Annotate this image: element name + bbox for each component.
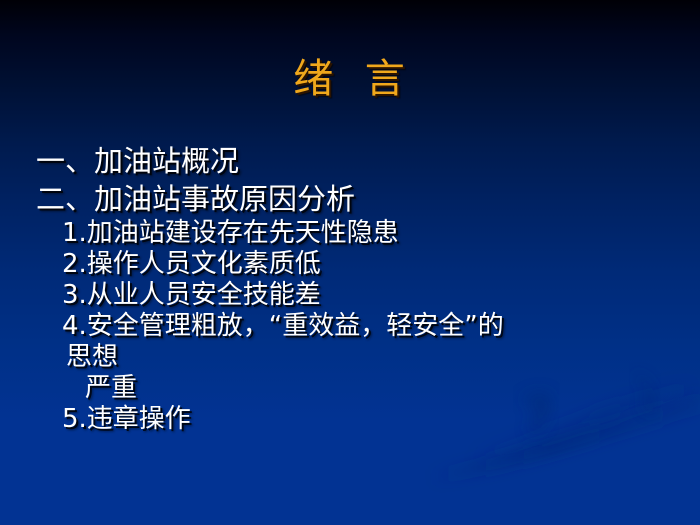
outline-item-1: 1.加油站建设存在先天性隐患 xyxy=(0,218,700,249)
outline-heading-1: 一、加油站概况 xyxy=(0,142,700,180)
outline-item-5: 5.违章操作 xyxy=(0,404,700,435)
presentation-slide: 绪 言 一、加油站概况 二、加油站事故原因分析 1.加油站建设存在先天性隐患 2… xyxy=(0,0,700,525)
outline-item-2: 2.操作人员文化素质低 xyxy=(0,249,700,280)
outline-item-3: 3.从业人员安全技能差 xyxy=(0,280,700,311)
outline-heading-2: 二、加油站事故原因分析 xyxy=(0,180,700,218)
slide-body-outline: 一、加油站概况 二、加油站事故原因分析 1.加油站建设存在先天性隐患 2.操作人… xyxy=(0,142,700,435)
outline-item-4-wrap: 思想 xyxy=(0,342,700,373)
outline-item-4: 4.安全管理粗放，“重效益，轻安全”的 xyxy=(0,311,700,342)
outline-item-4-tail: 严重 xyxy=(0,373,700,404)
slide-title: 绪 言 xyxy=(0,54,700,104)
